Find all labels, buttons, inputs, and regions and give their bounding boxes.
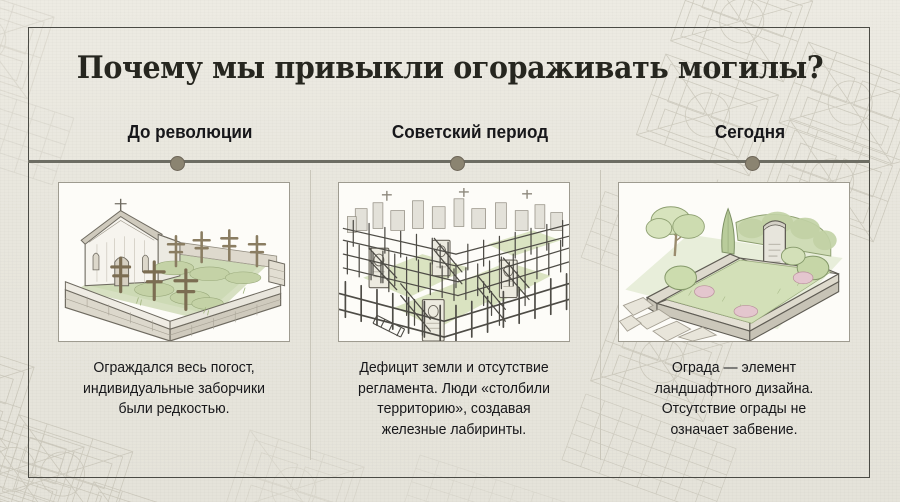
timeline-dot-3 — [745, 156, 760, 171]
slide-content: Почему мы привыкли огораживать могилы? Д… — [0, 0, 900, 502]
column-header-today: Сегодня — [617, 122, 883, 143]
timeline-axis — [28, 160, 870, 163]
column-header-soviet-period: Советский период — [337, 122, 603, 143]
column-headers: До революции Советский период Сегодня — [30, 122, 870, 150]
column-divider-2 — [600, 170, 601, 460]
image-card-fence-maze — [338, 182, 570, 342]
caption-today: Ограда — элемент ландшафтного дизайна. О… — [607, 358, 861, 440]
image-card-landscaped-grave — [618, 182, 850, 342]
caption-soviet-period: Дефицит земли и отсутствие регламента. Л… — [327, 358, 581, 440]
image-card-churchyard — [58, 182, 290, 342]
column-divider-1 — [310, 170, 311, 460]
fence-maze-illustration — [339, 183, 569, 341]
column-header-before-revolution: До революции — [57, 122, 323, 143]
churchyard-illustration — [59, 183, 289, 341]
timeline-dot-1 — [170, 156, 185, 171]
caption-before-revolution: Ограждался весь погост, индивидуальные з… — [47, 358, 301, 420]
timeline-dot-2 — [450, 156, 465, 171]
landscaped-grave-illustration — [619, 183, 849, 341]
page-title: Почему мы привыкли огораживать могилы? — [36, 50, 864, 86]
